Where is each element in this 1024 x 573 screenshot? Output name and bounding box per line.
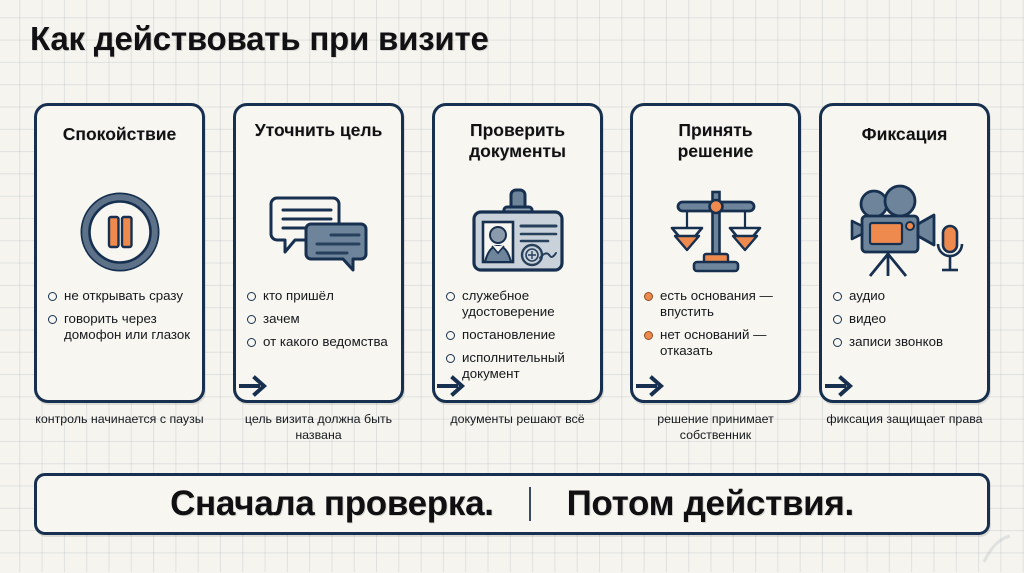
infographic-canvas: Как действовать при визите Спокойствие н… [0,0,1024,572]
summary-separator [529,487,531,521]
step-card-title: Проверить документы [443,120,592,161]
list-item: исполнительный документ [446,350,592,382]
list-item: от какого ведомства [247,334,393,350]
bullet-label: не открывать сразу [64,288,183,304]
step-card-bullet-list: аудио видео записи звонков [833,288,979,357]
bullet-label: видео [849,311,886,327]
bullet-marker-hollow-icon [446,331,455,340]
step-card-make-decision[interactable]: Принять решение [630,103,801,403]
bullet-label: нет оснований — отказать [660,327,790,359]
step-card-title: Принять решение [641,120,790,161]
step-card-clarify-purpose[interactable]: Уточнить цель кто пришёл [233,103,404,403]
corner-watermark-icon [978,528,1018,568]
step-card-calm[interactable]: Спокойствие не открывать сразу говори [34,103,205,403]
bullet-marker-hollow-icon [446,354,455,363]
bullet-label: кто пришёл [263,288,334,304]
bullet-marker-filled-icon [644,331,653,340]
arrow-step-2-to-3-icon [437,375,467,397]
bullet-marker-hollow-icon [833,292,842,301]
step-caption: решение принимает собственник [630,412,801,444]
bullet-label: зачем [263,311,300,327]
arrow-step-1-to-2-icon [239,375,269,397]
bullet-marker-hollow-icon [247,315,256,324]
step-card-bullet-list: не открывать сразу говорить через домофо… [48,288,194,350]
bullet-marker-hollow-icon [446,292,455,301]
step-caption: контроль начинается с паузы [34,412,205,428]
arrow-step-4-to-5-icon [825,375,855,397]
arrow-step-3-to-4-icon [636,375,666,397]
video-camera-microphone-icon [822,178,987,286]
step-card-title: Уточнить цель [244,120,393,141]
bullet-label: от какого ведомства [263,334,388,350]
speech-bubbles-icon [236,178,401,286]
summary-banner-text: Сначала проверка. Потом действия. [162,484,862,524]
list-item: кто пришёл [247,288,393,304]
bullet-label: постановление [462,327,555,343]
summary-left-text: Сначала проверка. [170,484,494,523]
bullet-label: служебное удостоверение [462,288,592,320]
step-card-title: Фиксация [830,124,979,145]
bullet-marker-hollow-icon [48,315,57,324]
page-title: Как действовать при визите [30,20,489,58]
step-captions-row: контроль начинается с паузы цель визита … [34,412,990,452]
step-caption: документы решают всё [432,412,603,428]
list-item: аудио [833,288,979,304]
bullet-label: говорить через домофон или глазок [64,311,194,343]
step-card-bullet-list: служебное удостоверение постановление ис… [446,288,592,389]
id-badge-icon [435,178,600,286]
bullet-label: аудио [849,288,885,304]
step-card-bullet-list: есть основания — впустить нет оснований … [644,288,790,366]
bullet-marker-hollow-icon [48,292,57,301]
list-item: говорить через домофон или глазок [48,311,194,343]
step-card-title: Спокойствие [45,124,194,145]
list-item: есть основания — впустить [644,288,790,320]
step-card-recording[interactable]: Фиксация [819,103,990,403]
summary-banner: Сначала проверка. Потом действия. [34,473,990,535]
bullet-marker-filled-icon [644,292,653,301]
bullet-label: исполнительный документ [462,350,592,382]
list-item: постановление [446,327,592,343]
bullet-marker-hollow-icon [833,338,842,347]
step-caption: цель визита должна быть названа [233,412,404,444]
bullet-marker-hollow-icon [247,338,256,347]
bullet-marker-hollow-icon [833,315,842,324]
list-item: видео [833,311,979,327]
bullet-marker-hollow-icon [247,292,256,301]
bullet-label: есть основания — впустить [660,288,790,320]
step-card-bullet-list: кто пришёл зачем от какого ведомства [247,288,393,357]
list-item: записи звонков [833,334,979,350]
pause-circle-icon [37,178,202,286]
list-item: не открывать сразу [48,288,194,304]
bullet-label: записи звонков [849,334,943,350]
list-item: служебное удостоверение [446,288,592,320]
list-item: зачем [247,311,393,327]
step-card-check-documents[interactable]: Проверить документы [432,103,603,403]
list-item: нет оснований — отказать [644,327,790,359]
scales-of-justice-icon [633,178,798,286]
step-caption: фиксация защищает права [819,412,990,428]
steps-row: Спокойствие не открывать сразу говори [34,103,990,403]
summary-right-text: Потом действия. [567,484,854,523]
